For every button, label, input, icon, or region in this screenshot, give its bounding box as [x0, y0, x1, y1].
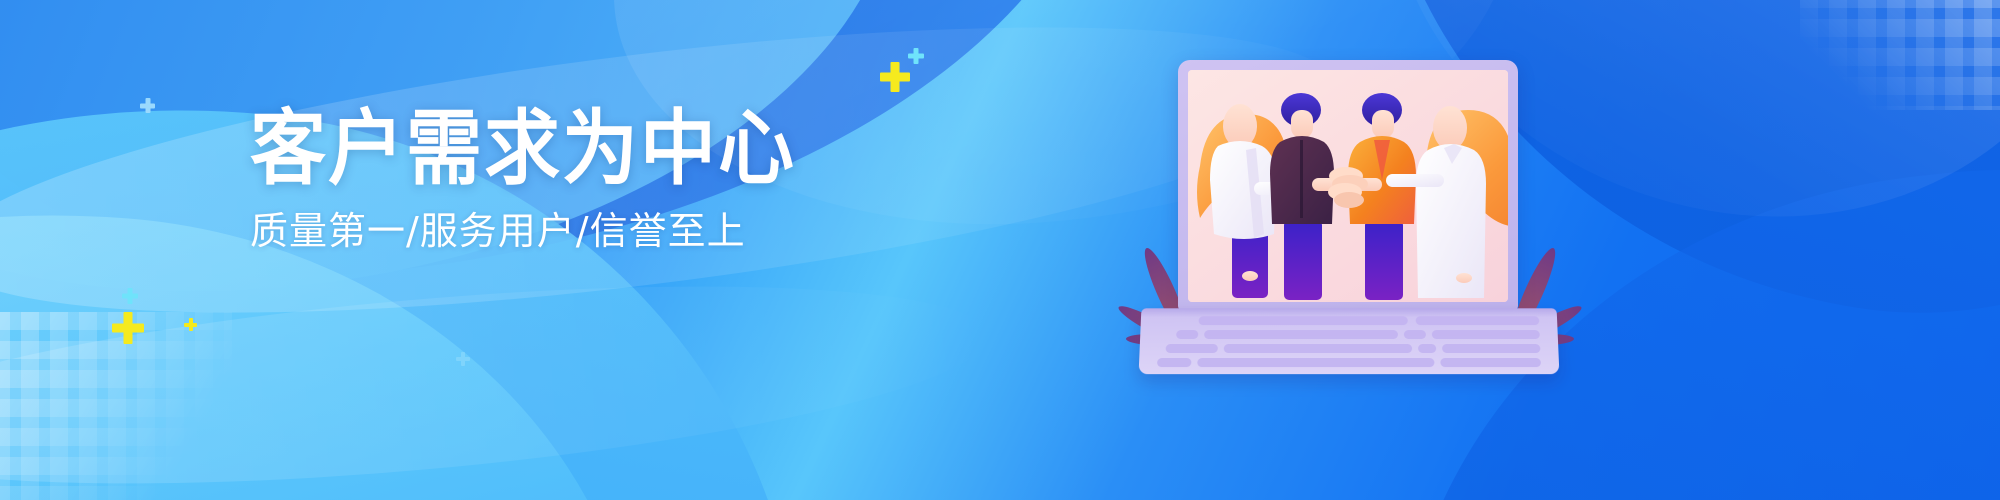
- laptop-base: [1139, 308, 1560, 374]
- keyboard-key: [1176, 330, 1198, 339]
- keyboard-key: [1224, 344, 1412, 353]
- plus-sparkle-mid-bottom-icon: [456, 352, 470, 366]
- plus-sparkle-mid-left-icon: [140, 98, 155, 113]
- plus-sparkle-large-right-icon: [880, 62, 910, 92]
- square-grid-top-right: [1800, 0, 2000, 110]
- wave-sheen-lower: [0, 250, 995, 500]
- banner-subtitle: 质量第一/服务用户/信誉至上: [250, 210, 810, 254]
- keyboard-key: [1198, 316, 1407, 325]
- keyboard-key: [1157, 358, 1191, 367]
- keyboard-key: [1440, 358, 1541, 367]
- keyboard-key: [1432, 330, 1540, 339]
- plus-sparkle-large-left-icon: [112, 312, 144, 344]
- square-grid-bottom-left: [0, 312, 232, 500]
- headline-block: 客户需求为中心 质量第一/服务用户/信誉至上: [250, 105, 810, 253]
- laptop-screen: [1188, 70, 1508, 302]
- keyboard-key: [1166, 344, 1218, 353]
- plus-sparkle-tiny-left-icon: [184, 318, 197, 331]
- laptop-team-illustration: [1130, 40, 1570, 380]
- keyboard-key: [1197, 358, 1434, 367]
- keyboard-key: [1404, 330, 1426, 339]
- banner-headline: 客户需求为中心: [250, 105, 810, 192]
- plus-sparkle-small-right-icon: [908, 48, 924, 64]
- team-handstack-artwork: [1188, 70, 1508, 302]
- keyboard-key: [1418, 344, 1436, 353]
- keyboard-key: [1416, 316, 1540, 325]
- plus-sparkle-small-left-icon: [122, 288, 138, 304]
- keyboard-key: [1204, 330, 1398, 339]
- keyboard-key: [1442, 344, 1540, 353]
- laptop-lid: [1178, 60, 1518, 310]
- marketing-banner: 客户需求为中心 质量第一/服务用户/信誉至上: [0, 0, 2000, 500]
